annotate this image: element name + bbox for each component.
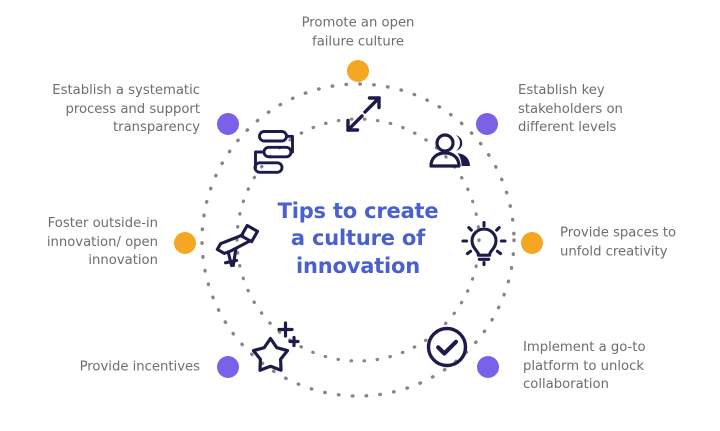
node-label-implement-go-to-platform: Implement a go-to platform to unlock col…	[523, 339, 713, 395]
node-label-foster-outside-in-innovation: Foster outside-in innovation/ open innov…	[0, 215, 158, 271]
node-label-provide-incentives: Provide incentives	[0, 359, 200, 378]
node-label-promote-open-failure-culture: Promote an open failure culture	[243, 14, 473, 51]
people-group-icon	[426, 130, 478, 174]
node-label-establish-key-stakeholders: Establish key stakeholders on different …	[518, 82, 708, 138]
star-sparkle-icon	[250, 320, 302, 372]
center-title: Tips to create a culture of innovation	[238, 198, 478, 280]
node-label-provide-spaces-unfold-creativity: Provide spaces to unfold creativity	[560, 224, 720, 261]
node-label-establish-systematic-process: Establish a systematic process and suppo…	[0, 82, 200, 138]
node-dot-implement-go-to-platform[interactable]	[477, 356, 499, 378]
node-dot-promote-open-failure-culture[interactable]	[347, 60, 369, 82]
check-circle-icon	[424, 324, 470, 370]
lightbulb-icon	[461, 220, 507, 268]
center-title-line-3: innovation	[238, 253, 478, 280]
node-dot-establish-systematic-process[interactable]	[217, 113, 239, 135]
process-flow-icon	[247, 128, 301, 176]
node-dot-provide-spaces-unfold-creativity[interactable]	[521, 232, 543, 254]
diagonal-arrows-icon	[341, 92, 387, 136]
center-title-line-2: a culture of	[238, 225, 478, 252]
node-dot-provide-incentives[interactable]	[217, 356, 239, 378]
telescope-icon	[211, 221, 265, 269]
center-title-line-1: Tips to create	[238, 198, 478, 225]
innovation-culture-infographic: Tips to create a culture of innovation P…	[0, 0, 720, 431]
node-dot-establish-key-stakeholders[interactable]	[476, 113, 498, 135]
node-dot-foster-outside-in-innovation[interactable]	[174, 232, 196, 254]
